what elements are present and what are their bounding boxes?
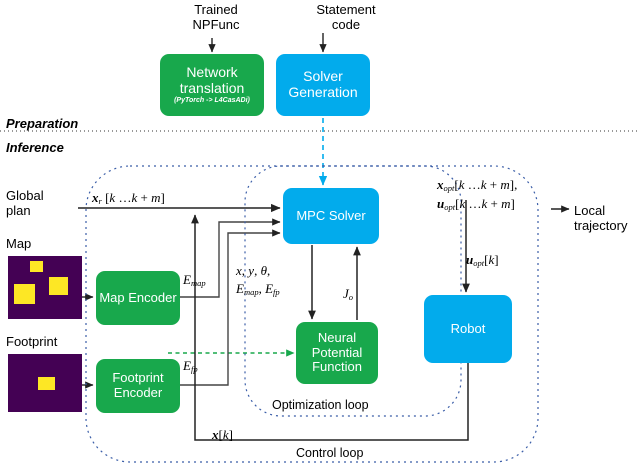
label-trained-npfunc: Trained NPFunc	[170, 2, 262, 32]
footprint-shape	[38, 377, 54, 390]
label-global-plan: Global plan	[6, 188, 76, 218]
node-mpc-solver[interactable]: MPC Solver	[283, 188, 379, 244]
map-thumbnail	[8, 256, 82, 319]
node-solver-generation[interactable]: Solver Generation	[276, 54, 370, 116]
node-network-translation-subtitle: (PyTorch -> L4CasADi)	[174, 97, 250, 105]
diagram-canvas: Trained NPFunc Statement code Preparatio…	[0, 0, 640, 472]
signal-e-map: Emap	[183, 272, 206, 288]
signal-state-terms: x, y, θ,Emap, Efp	[236, 262, 280, 298]
node-mpc-solver-label: MPC Solver	[296, 209, 365, 224]
map-obstacle	[30, 261, 43, 272]
node-neural-potential-function[interactable]: Neural Potential Function	[296, 322, 378, 384]
arrow-mpc-to-robot	[379, 212, 466, 292]
label-phase-preparation: Preparation	[6, 116, 78, 131]
label-map: Map	[6, 236, 31, 251]
node-map-encoder[interactable]: Map Encoder	[96, 271, 180, 325]
footprint-thumbnail	[8, 354, 82, 412]
node-robot-label: Robot	[451, 322, 486, 337]
node-network-translation[interactable]: Network translation (PyTorch -> L4CasADi…	[160, 54, 264, 116]
label-local-trajectory: Local trajectory	[574, 203, 640, 233]
signal-u-opt-k: uopt[k]	[466, 252, 499, 268]
node-neural-potential-function-label: Neural Potential Function	[296, 331, 378, 375]
signal-global-plan-state: xr [k …k + m]	[92, 190, 165, 206]
signal-e-fp: Efp	[183, 358, 198, 374]
map-obstacle	[14, 284, 35, 304]
signal-x-k: x[k]	[212, 427, 233, 443]
signal-cost-jo: Jo	[343, 286, 353, 302]
label-footprint: Footprint	[6, 334, 57, 349]
signal-x-opt: xopt[k …k + m], uopt[k …k + m]	[437, 176, 517, 214]
map-obstacle	[49, 277, 68, 295]
node-footprint-encoder[interactable]: Footprint Encoder	[96, 359, 180, 413]
node-footprint-encoder-label: Footprint Encoder	[96, 371, 180, 400]
label-statement-code: Statement code	[300, 2, 392, 32]
node-robot[interactable]: Robot	[424, 295, 512, 363]
node-network-translation-label: Network translation	[160, 65, 264, 96]
node-solver-generation-label: Solver Generation	[276, 69, 370, 100]
node-map-encoder-label: Map Encoder	[99, 291, 176, 306]
label-optimization-loop: Optimization loop	[272, 398, 369, 413]
label-phase-inference: Inference	[6, 140, 64, 155]
label-control-loop: Control loop	[296, 446, 363, 461]
